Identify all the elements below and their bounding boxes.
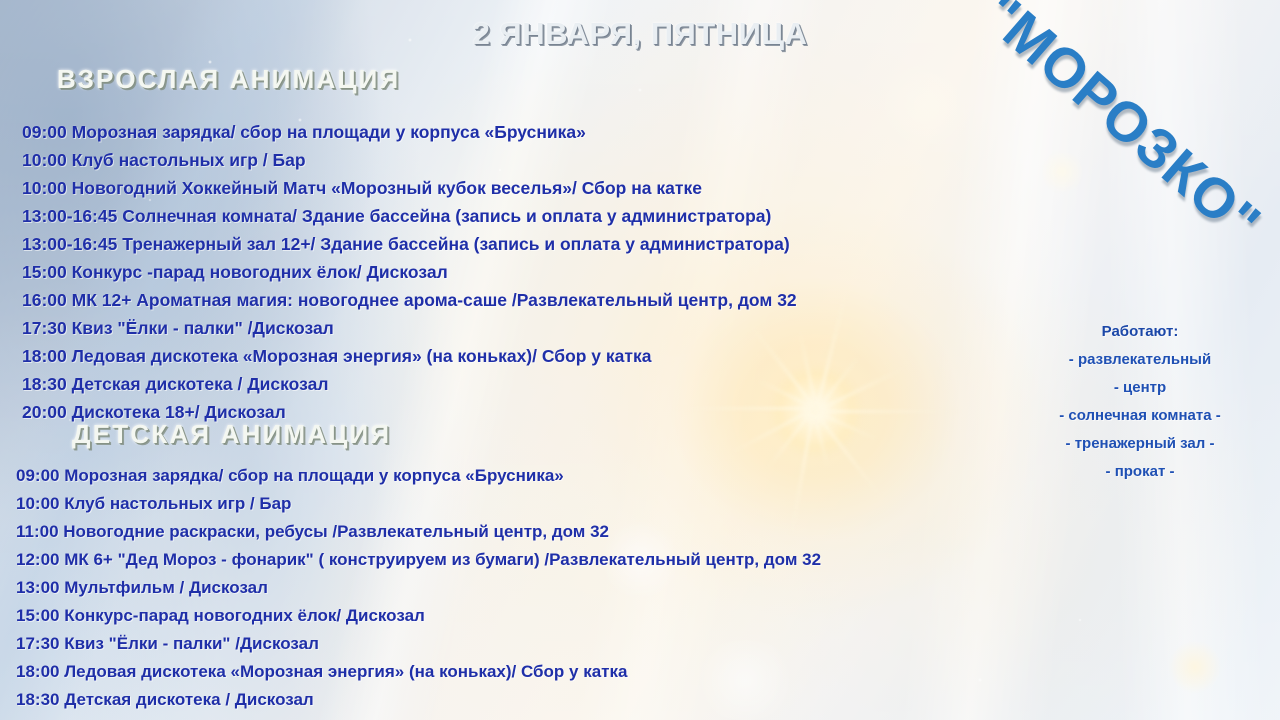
schedule-row: 13:00-16:45 Солнечная комната/ Здание ба… <box>22 202 797 230</box>
facilities-panel-item: - тренажерный зал - <box>1012 430 1268 458</box>
schedule-list-adults: 09:00 Морозная зарядка/ сбор на площади … <box>22 118 797 426</box>
schedule-row: 15:00 Конкурс-парад новогодних ёлок/ Дис… <box>16 602 821 630</box>
schedule-row: 09:00 Морозная зарядка/ сбор на площади … <box>22 118 797 146</box>
facilities-panel: Работают: - развлекательный - центр - со… <box>1012 318 1268 486</box>
schedule-row: 18:00 Ледовая дискотека «Морозная энерги… <box>16 658 821 686</box>
section-heading-kids: ДЕТСКАЯ АНИМАЦИЯ <box>72 419 391 450</box>
schedule-row: 15:00 Конкурс -парад новогодних ёлок/ Ди… <box>22 258 797 286</box>
schedule-row: 10:00 Клуб настольных игр / Бар <box>22 146 797 174</box>
facilities-panel-item: - развлекательный <box>1012 346 1268 374</box>
schedule-row: 10:00 Новогодний Хоккейный Матч «Морозны… <box>22 174 797 202</box>
schedule-row: 17:30 Квиз "Ёлки - палки" /Дискозал <box>16 630 821 658</box>
facilities-panel-heading: Работают: <box>1012 318 1268 346</box>
schedule-row: 17:30 Квиз "Ёлки - палки" /Дискозал <box>22 314 797 342</box>
schedule-row: 18:00 Ледовая дискотека «Морозная энерги… <box>22 342 797 370</box>
schedule-row: 10:00 Клуб настольных игр / Бар <box>16 490 821 518</box>
page-title: 2 ЯНВАРЯ, ПЯТНИЦА <box>0 16 1280 52</box>
schedule-row: 12:00 МК 6+ "Дед Мороз - фонарик" ( конс… <box>16 546 821 574</box>
section-heading-adults: ВЗРОСЛАЯ АНИМАЦИЯ <box>57 64 400 95</box>
poster-canvas: 2 ЯНВАРЯ, ПЯТНИЦА "МОРОЗКО" ВЗРОСЛАЯ АНИ… <box>0 0 1280 720</box>
schedule-row: 18:30 Детская дискотека / Дискозал <box>16 686 821 714</box>
schedule-row: 16:00 МК 12+ Ароматная магия: новогоднее… <box>22 286 797 314</box>
schedule-row: 11:00 Новогодние раскраски, ребусы /Разв… <box>16 518 821 546</box>
schedule-row: 13:00 Мультфильм / Дискозал <box>16 574 821 602</box>
schedule-row: 13:00-16:45 Тренажерный зал 12+/ Здание … <box>22 230 797 258</box>
facilities-panel-item: - центр <box>1012 374 1268 402</box>
facilities-panel-item: - прокат - <box>1012 458 1268 486</box>
poster-content: 2 ЯНВАРЯ, ПЯТНИЦА "МОРОЗКО" ВЗРОСЛАЯ АНИ… <box>0 0 1280 720</box>
schedule-list-kids: 09:00 Морозная зарядка/ сбор на площади … <box>16 462 821 714</box>
facilities-panel-item: - солнечная комната - <box>1012 402 1268 430</box>
schedule-row: 09:00 Морозная зарядка/ сбор на площади … <box>16 462 821 490</box>
schedule-row: 18:30 Детская дискотека / Дискозал <box>22 370 797 398</box>
